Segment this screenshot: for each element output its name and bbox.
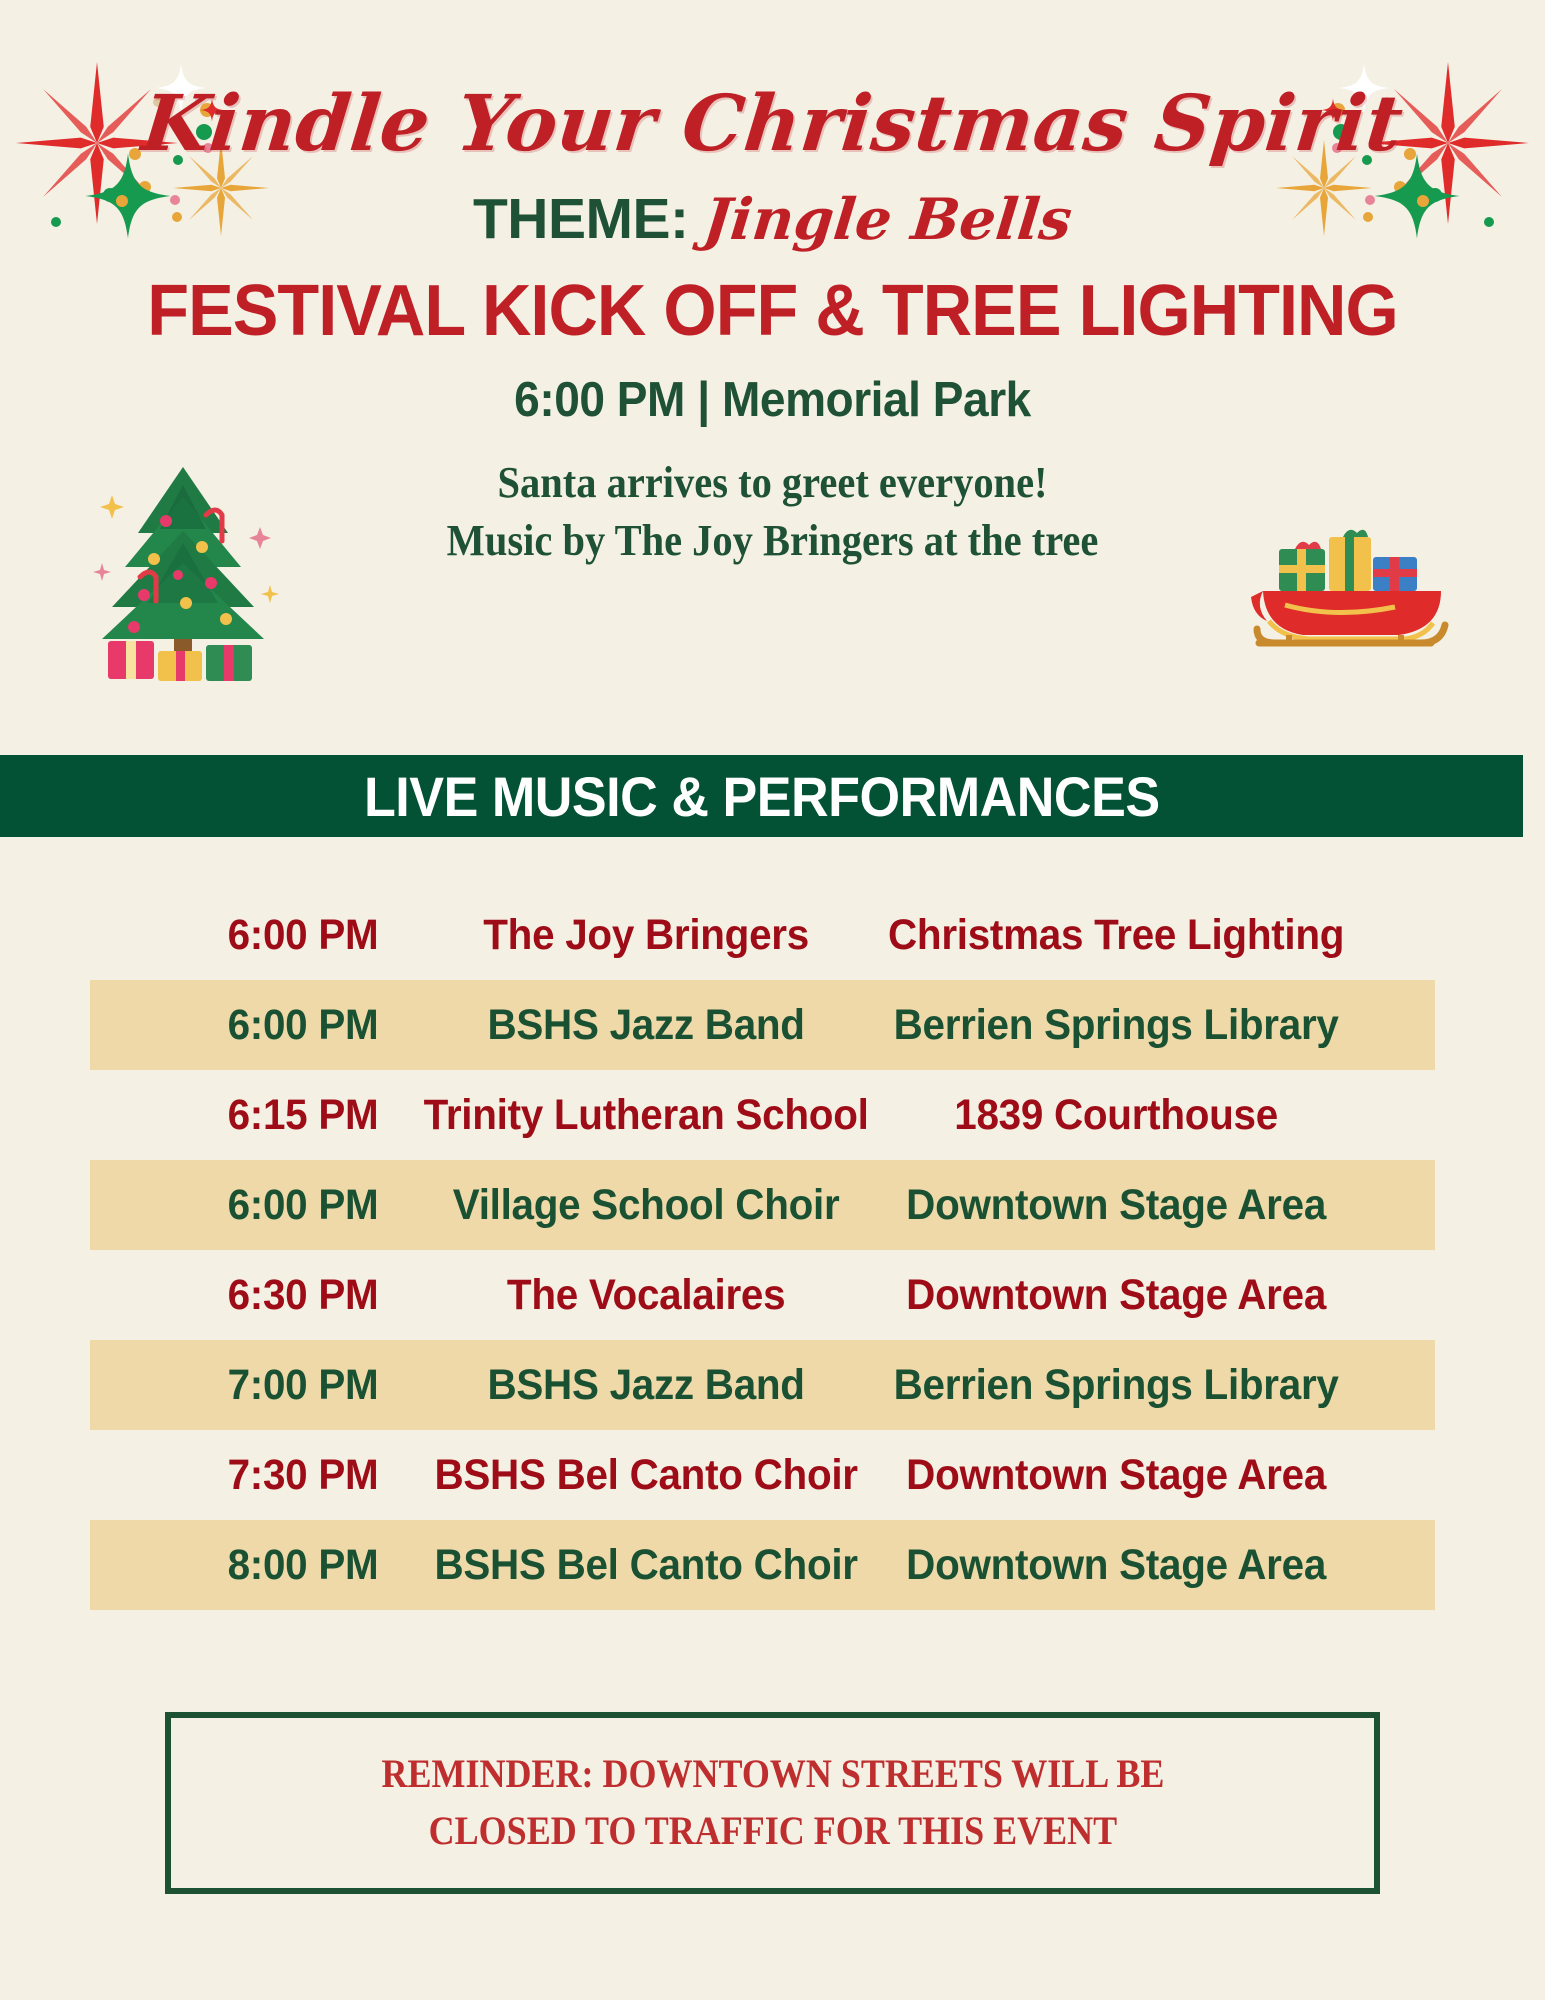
row-performer: The Vocalaires — [420, 1271, 871, 1320]
schedule-row: 6:30 PM The Vocalaires Downtown Stage Ar… — [0, 1250, 1545, 1340]
row-location: 1839 Courthouse — [871, 1091, 1360, 1140]
page-title: Kindle Your Christmas Spirit — [0, 86, 1545, 163]
kickoff-title: FESTIVAL KICK OFF & TREE LIGHTING — [39, 274, 1507, 350]
row-location: Downtown Stage Area — [871, 1541, 1360, 1590]
kickoff-time-location: 6:00 PM | Memorial Park — [46, 372, 1498, 428]
row-performer: BSHS Bel Canto Choir — [420, 1541, 871, 1590]
row-time: 6:00 PM — [185, 1181, 420, 1230]
row-location: Christmas Tree Lighting — [871, 911, 1360, 960]
row-location: Downtown Stage Area — [871, 1181, 1360, 1230]
row-location: Downtown Stage Area — [871, 1271, 1360, 1320]
schedule-row: 6:00 PM Village School Choir Downtown St… — [0, 1160, 1545, 1250]
row-location: Berrien Springs Library — [871, 1001, 1360, 1050]
theme-label: THEME: — [473, 187, 688, 251]
row-time: 6:15 PM — [185, 1091, 420, 1140]
santa-line-1: Santa arrives to greet everyone! — [62, 454, 1483, 512]
live-music-banner: LIVE MUSIC & PERFORMANCES — [0, 755, 1523, 837]
theme-value: Jingle Bells — [701, 191, 1075, 248]
reminder-line-2: CLOSED TO TRAFFIC FOR THIS EVENT — [381, 1803, 1164, 1860]
row-performer: The Joy Bringers — [420, 911, 871, 960]
reminder-box: REMINDER: DOWNTOWN STREETS WILL BE CLOSE… — [165, 1712, 1380, 1894]
row-time: 8:00 PM — [185, 1541, 420, 1590]
schedule-row: 6:00 PM The Joy Bringers Christmas Tree … — [0, 890, 1545, 980]
reminder-text: REMINDER: DOWNTOWN STREETS WILL BE CLOSE… — [381, 1746, 1164, 1860]
row-performer: BSHS Jazz Band — [420, 1361, 871, 1410]
schedule-row: 6:00 PM BSHS Jazz Band Berrien Springs L… — [0, 980, 1545, 1070]
row-time: 7:00 PM — [185, 1361, 420, 1410]
row-time: 6:00 PM — [185, 911, 420, 960]
poster-canvas: Kindle Your Christmas Spirit THEME:Jingl… — [0, 0, 1545, 2000]
theme-line: THEME:Jingle Bells — [0, 191, 1545, 248]
reminder-line-1: REMINDER: DOWNTOWN STREETS WILL BE — [381, 1746, 1164, 1803]
schedule-row: 7:00 PM BSHS Jazz Band Berrien Springs L… — [0, 1340, 1545, 1430]
row-location: Downtown Stage Area — [871, 1451, 1360, 1500]
schedule-row: 7:30 PM BSHS Bel Canto Choir Downtown St… — [0, 1430, 1545, 1520]
performance-schedule: 6:00 PM The Joy Bringers Christmas Tree … — [0, 890, 1545, 1610]
schedule-row: 6:15 PM Trinity Lutheran School 1839 Cou… — [0, 1070, 1545, 1160]
row-performer: BSHS Jazz Band — [420, 1001, 871, 1050]
row-performer: BSHS Bel Canto Choir — [420, 1451, 871, 1500]
row-time: 7:30 PM — [185, 1451, 420, 1500]
row-time: 6:00 PM — [185, 1001, 420, 1050]
kickoff-description: Santa arrives to greet everyone! Music b… — [62, 454, 1483, 570]
row-performer: Village School Choir — [420, 1181, 871, 1230]
row-location: Berrien Springs Library — [871, 1361, 1360, 1410]
row-time: 6:30 PM — [185, 1271, 420, 1320]
poster-header: Kindle Your Christmas Spirit THEME:Jingl… — [0, 0, 1545, 570]
santa-line-2: Music by The Joy Bringers at the tree — [62, 512, 1483, 570]
row-performer: Trinity Lutheran School — [420, 1091, 871, 1140]
schedule-row: 8:00 PM BSHS Bel Canto Choir Downtown St… — [0, 1520, 1545, 1610]
banner-title: LIVE MUSIC & PERFORMANCES — [364, 764, 1160, 829]
